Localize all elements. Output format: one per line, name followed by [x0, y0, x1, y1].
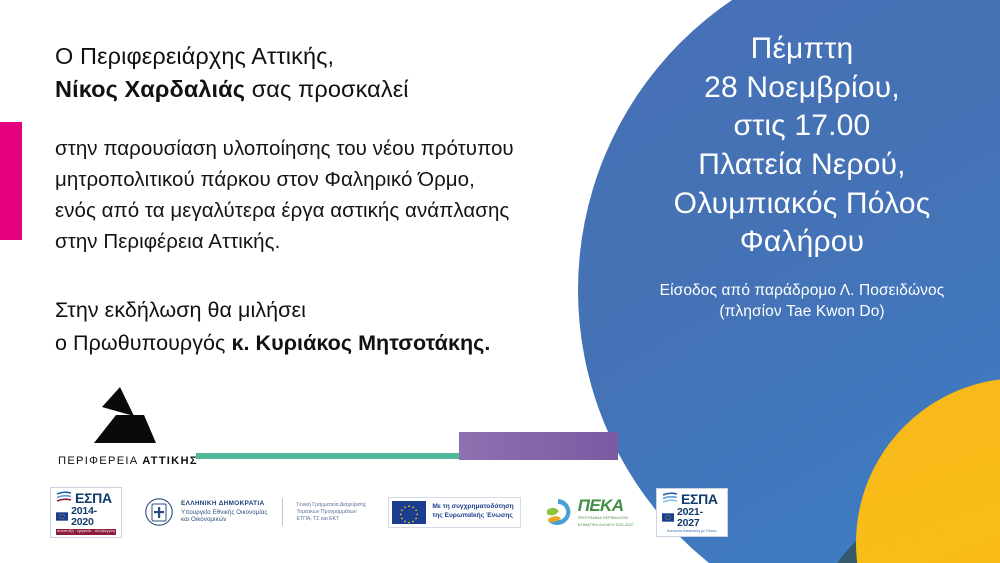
- speaker-line-2-prefix: ο Πρωθυπουργός: [55, 331, 231, 355]
- invitation-text-column: Ο Περιφερειάρχης Αττικής, Νίκος Χαρδαλιά…: [55, 40, 600, 359]
- purple-block-decoration: [459, 432, 618, 460]
- espa-logo-2021: ΕΣΠΑ 2021-2027 Κοινωνία Απόστολη με Όλου…: [656, 488, 728, 537]
- peka-sub-2: ΚΛΙΜΑΤΙΚΗ ΑΛΛΑΓΗ 2021-2027: [578, 523, 634, 528]
- eu-cofunded-text: Με τη συγχρηματοδότηση της Ευρωπαϊκής Έν…: [432, 503, 513, 521]
- entrance-note: Είσοδος από παράδρομο Λ. Ποσειδώνος (πλη…: [612, 281, 992, 323]
- event-venue-line-3: Φαλήρου: [612, 223, 992, 262]
- hellenic-republic-sub-2: και Οικονομικών: [181, 516, 268, 524]
- event-day: Πέμπτη: [612, 30, 992, 69]
- espa-tagline: Κοινωνία Απόστολη με Όλους: [662, 530, 722, 534]
- espa-word: ΕΣΠΑ: [681, 492, 718, 506]
- eu-text-line-2: της Ευρωπαϊκής Ένωσης: [432, 512, 513, 521]
- entrance-line-2: (πλησίον Tae Kwon Do): [612, 302, 992, 323]
- espa-years-row: 2014-2020: [56, 506, 116, 527]
- hellenic-republic-secretariat: Γενική Γραμματεία Διαχείρισης Τομεακών Π…: [297, 502, 367, 524]
- espa-logo-2014: ΕΣΠΑ 2014-2020 ανάπτυξη · εργασία · αλλη…: [50, 487, 122, 538]
- peka-texts: ΠΕΚΑ ΠΡΟΓΡΑΜΜΑ ΠΕΡΙΒΑΛΛΟΝ ΚΛΙΜΑΤΙΚΗ ΑΛΛΑ…: [578, 497, 634, 528]
- eu-flag-icon: [392, 501, 426, 524]
- body-line-3: ενός από τα μεγαλύτερα έργα αστικής ανάπ…: [55, 195, 600, 226]
- espa-tagline: ανάπτυξη · εργασία · αλληλεγγύη: [56, 529, 116, 535]
- footer-logo-strip: ΕΣΠΑ 2014-2020 ανάπτυξη · εργασία · αλλη…: [50, 487, 728, 538]
- lead-line-2-rest: σας προσκαλεί: [245, 76, 409, 102]
- espa-swoosh-icon: [56, 491, 72, 505]
- logo-espa-2014-2020: ΕΣΠΑ 2014-2020 ανάπτυξη · εργασία · αλλη…: [50, 487, 122, 538]
- body-line-1: στην παρουσίαση υλοποίησης του νέου πρότ…: [55, 133, 600, 164]
- event-when-where: Πέμπτη 28 Νοεμβρίου, στις 17.00 Πλατεία …: [612, 30, 992, 262]
- attica-region-logo: ΠΕΡΙΦΕΡΕΙΑ ΑΤΤΙΚΗΣ: [58, 385, 238, 467]
- entrance-line-1: Είσοδος από παράδρομο Λ. Ποσειδώνος: [612, 281, 992, 302]
- lead-paragraph: Ο Περιφερειάρχης Αττικής, Νίκος Χαρδαλιά…: [55, 40, 600, 107]
- logo-espa-2021-2027: ΕΣΠΑ 2021-2027 Κοινωνία Απόστολη με Όλου…: [656, 488, 728, 537]
- inviter-name: Νίκος Χαρδαλιάς: [55, 76, 245, 102]
- event-date: 28 Νοεμβρίου,: [612, 69, 992, 108]
- secretariat-line-3: ΕΤΠΑ, ΤΣ και ΕΚΤ: [297, 516, 367, 523]
- hellenic-republic-texts: ΕΛΛΗΝΙΚΗ ΔΗΜΟΚΡΑΤΙΑ Υπουργείο Εθνικής Οι…: [181, 500, 268, 524]
- hellenic-republic-divider: [282, 498, 283, 526]
- logo-peka: ΠΕΚΑ ΠΡΟΓΡΑΜΜΑ ΠΕΡΙΒΑΛΛΟΝ ΚΛΙΜΑΤΙΚΗ ΑΛΛΑ…: [543, 497, 634, 528]
- lead-line-2: Νίκος Χαρδαλιάς σας προσκαλεί: [55, 73, 600, 106]
- attica-wordmark-light: ΠΕΡΙΦΕΡΕΙΑ: [58, 455, 142, 467]
- secretariat-line-1: Γενική Γραμματεία Διαχείρισης: [297, 502, 367, 509]
- peka-leaf-icon: [543, 497, 573, 527]
- espa-top-row: ΕΣΠΑ: [56, 491, 116, 505]
- hellenic-republic-title: ΕΛΛΗΝΙΚΗ ΔΗΜΟΚΡΑΤΙΑ: [181, 500, 268, 508]
- peka-word: ΠΕΚΑ: [578, 497, 634, 514]
- invitation-poster: Ο Περιφερειάρχης Αττικής, Νίκος Χαρδαλιά…: [0, 0, 1000, 563]
- hellenic-republic-emblem-icon: [144, 495, 174, 529]
- event-time: στις 17.00: [612, 107, 992, 146]
- secretariat-line-2: Τομεακών Προγραμμάτων: [297, 509, 367, 516]
- event-venue-line-2: Ολυμπιακός Πόλος: [612, 185, 992, 224]
- body-line-2: μητροπολιτικού πάρκου στον Φαληρικό Όρμο…: [55, 164, 600, 195]
- hellenic-republic-sub-1: Υπουργείο Εθνικής Οικονομίας: [181, 509, 268, 517]
- speaker-name: κ. Κυριάκος Μητσοτάκης.: [231, 331, 490, 355]
- espa-years: 2014-2020: [71, 506, 116, 527]
- eu-text-line-1: Με τη συγχρηματοδότηση: [432, 503, 513, 512]
- eu-flag-icon: [56, 512, 68, 521]
- body-paragraph: στην παρουσίαση υλοποίησης του νέου πρότ…: [55, 133, 600, 258]
- espa-swoosh-icon: [662, 492, 678, 506]
- speaker-line-1: Στην εκδήλωση θα μιλήσει: [55, 294, 600, 326]
- speaker-paragraph: Στην εκδήλωση θα μιλήσει ο Πρωθυπουργός …: [55, 294, 600, 359]
- espa-years: 2021-2027: [677, 507, 722, 528]
- peka-sub-1: ΠΡΟΓΡΑΜΜΑ ΠΕΡΙΒΑΛΛΟΝ: [578, 516, 634, 521]
- espa-top-row: ΕΣΠΑ: [662, 492, 722, 506]
- eu-flag-icon: [662, 513, 674, 522]
- magenta-bar-decoration: [0, 122, 22, 240]
- logo-eu-cofunded: Με τη συγχρηματοδότηση της Ευρωπαϊκής Έν…: [388, 497, 520, 528]
- attica-wordmark: ΠΕΡΙΦΕΡΕΙΑ ΑΤΤΙΚΗΣ: [58, 455, 238, 467]
- event-details-column: Πέμπτη 28 Νοεμβρίου, στις 17.00 Πλατεία …: [612, 30, 992, 323]
- espa-years-row: 2021-2027: [662, 507, 722, 528]
- lead-line-1: Ο Περιφερειάρχης Αττικής,: [55, 40, 600, 73]
- attica-wordmark-bold: ΑΤΤΙΚΗΣ: [142, 455, 198, 467]
- event-venue-line-1: Πλατεία Νερού,: [612, 146, 992, 185]
- espa-word: ΕΣΠΑ: [75, 491, 112, 505]
- logo-hellenic-republic: ΕΛΛΗΝΙΚΗ ΔΗΜΟΚΡΑΤΙΑ Υπουργείο Εθνικής Οι…: [144, 495, 366, 529]
- speaker-line-2: ο Πρωθυπουργός κ. Κυριάκος Μητσοτάκης.: [55, 327, 600, 359]
- body-line-4: στην Περιφέρεια Αττικής.: [55, 226, 600, 257]
- attica-mountain-icon: [86, 385, 162, 447]
